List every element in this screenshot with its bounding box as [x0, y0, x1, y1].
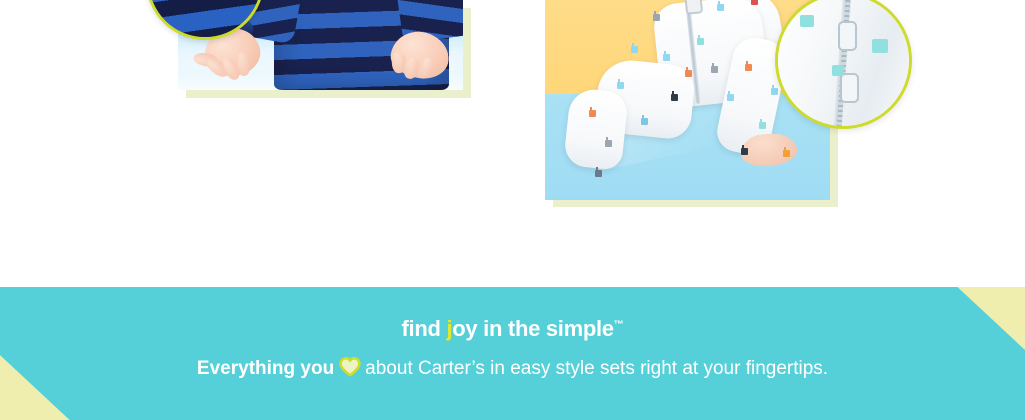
llama-motif	[617, 82, 624, 89]
promo-content: find joy in the simple™ Everything youab…	[0, 287, 1025, 384]
product-photo-row	[0, 0, 1025, 287]
llama-motif	[745, 64, 752, 71]
llama-motif	[751, 0, 758, 5]
llama-motif	[727, 94, 734, 101]
promo-headline-before: find	[402, 316, 447, 341]
llama-motif	[741, 148, 748, 155]
llama-motif	[872, 39, 888, 53]
llama-motif	[832, 65, 844, 76]
llama-motif	[697, 38, 704, 45]
zoom-callout-left[interactable]	[146, 0, 264, 40]
finger	[415, 55, 436, 81]
promo-subline-bold: Everything you	[197, 358, 334, 379]
llama-motif	[800, 15, 814, 27]
llama-motif	[717, 4, 724, 11]
llama-motif	[685, 70, 692, 77]
llama-motif	[783, 150, 790, 157]
zipper-slider-top	[838, 21, 857, 51]
llama-motif	[663, 54, 670, 61]
promo-headline-after: oy in the simple	[452, 316, 613, 341]
llama-motif	[671, 94, 678, 101]
trademark-symbol: ™	[614, 320, 624, 331]
promo-headline: find joy in the simple™	[0, 287, 1025, 341]
llama-motif	[595, 170, 602, 177]
zoom-detail-fabric	[146, 0, 264, 40]
pajama-leg	[563, 87, 629, 171]
page-root: find joy in the simple™ Everything youab…	[0, 0, 1025, 420]
promo-subline: Everything youabout Carter’s in easy sty…	[0, 341, 1025, 384]
llama-motif	[653, 14, 660, 21]
promo-subline-rest: about Carter’s in easy style sets right …	[365, 358, 828, 379]
llama-motif	[759, 122, 766, 129]
llama-motif	[771, 88, 778, 95]
llama-motif	[589, 110, 596, 117]
llama-motif	[711, 66, 718, 73]
promo-banner: find joy in the simple™ Everything youab…	[0, 287, 1025, 420]
pajama-zipper-pull	[684, 0, 703, 15]
llama-motif	[641, 118, 648, 125]
llama-motif	[631, 46, 638, 53]
zoom-callout-right[interactable]	[775, 0, 912, 129]
zipper-slider-bottom	[840, 73, 859, 103]
heart-icon	[339, 357, 361, 384]
llama-motif	[605, 140, 612, 147]
